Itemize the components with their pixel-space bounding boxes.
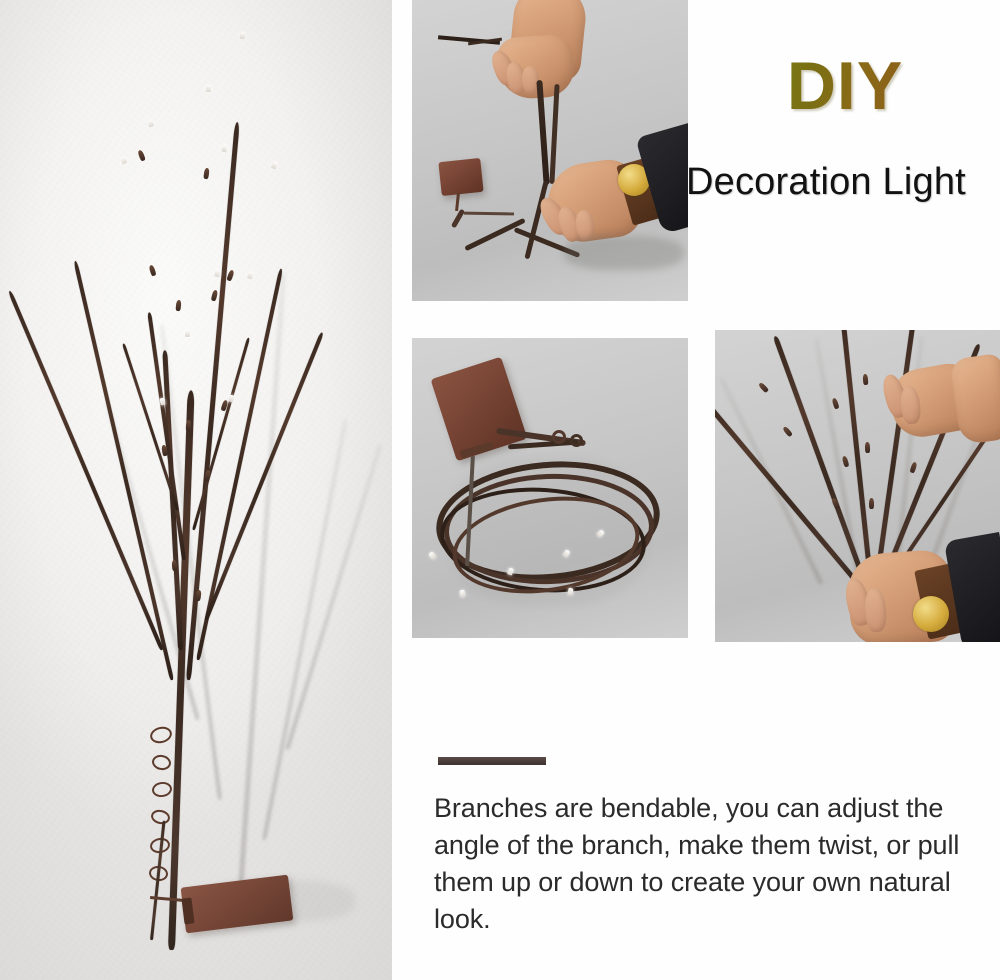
step3-photo-spread	[715, 330, 1000, 642]
page-title-diy: DIY	[770, 48, 920, 124]
infographic-canvas: DIY Decoration Light Branches are bendab…	[0, 0, 1000, 980]
step3-bud	[831, 497, 840, 509]
step2-wire-twist	[552, 430, 566, 444]
step3-bud	[831, 397, 839, 409]
step3-bud	[865, 442, 870, 453]
step1-cast-shadow	[564, 236, 684, 270]
step2-led-tip	[459, 590, 465, 598]
hero-vignette	[0, 0, 392, 980]
step3-bud	[869, 498, 874, 509]
step2-led-tip	[428, 551, 436, 560]
feature-description-text: Branches are bendable, you can adjust th…	[434, 790, 994, 938]
step2-led-tip	[568, 588, 574, 596]
step2-wire-twist	[570, 434, 583, 447]
step3-bud	[863, 374, 869, 385]
step3-watch-face	[913, 596, 949, 632]
step1-battery-lead	[455, 193, 460, 211]
step1-branch-wire	[549, 84, 559, 184]
step3-bud	[782, 426, 793, 438]
step3-bud	[842, 456, 850, 468]
step1-branch-wire	[464, 218, 526, 251]
step2-photo-coiled	[412, 338, 688, 638]
page-subtitle-decoration-light: Decoration Light	[686, 158, 998, 206]
step3-upper-forearm	[949, 353, 1000, 445]
step3-bud	[758, 382, 769, 393]
hero-product-photo	[0, 0, 392, 980]
step1-photo-unwind	[412, 0, 688, 301]
section-divider	[438, 757, 546, 765]
step1-battery-lead	[464, 212, 514, 216]
step1-branch-wire	[451, 209, 465, 229]
step1-battery-box	[438, 158, 483, 196]
